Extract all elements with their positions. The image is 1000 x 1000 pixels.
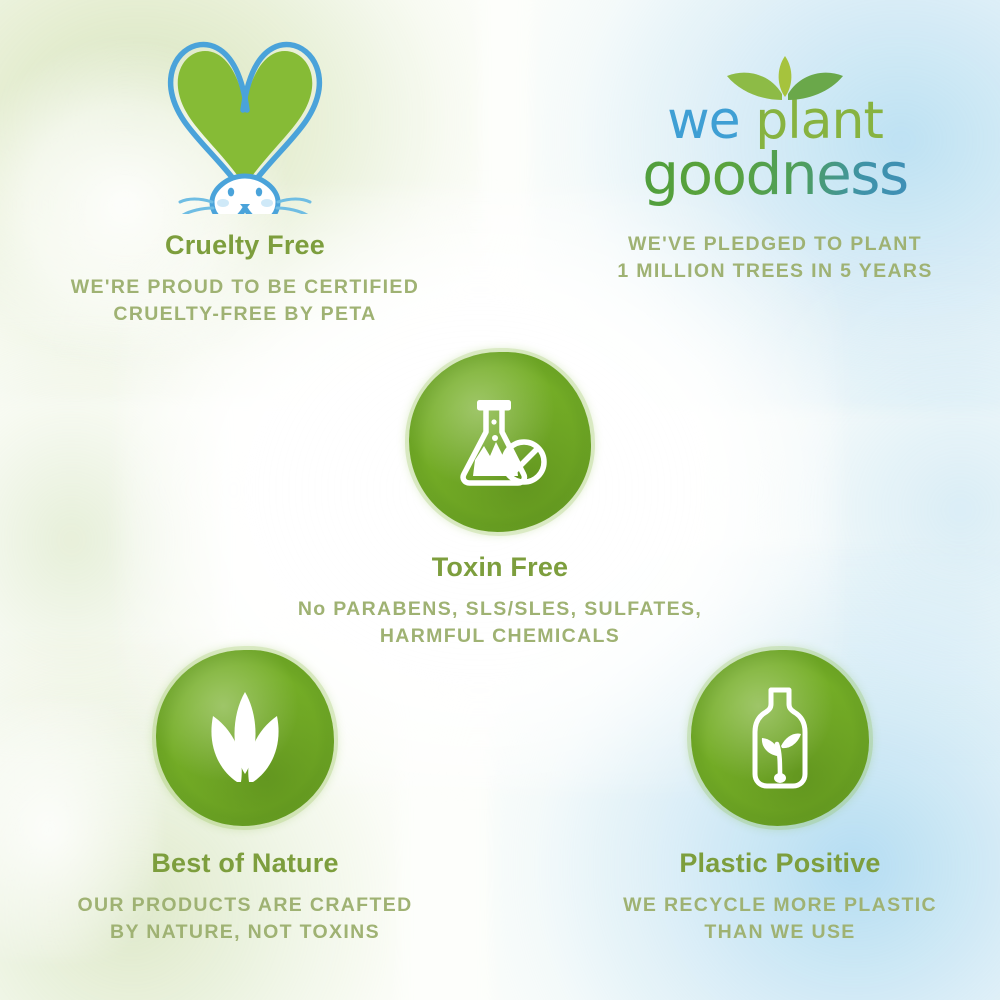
badge-subtitle-line-1: WE'RE PROUD TO BE CERTIFIED [71, 276, 419, 298]
badge-subtitle: WE'VE PLEDGED TO PLANT 1 MILLION TREES I… [560, 231, 990, 285]
badge-subtitle-line-1: WE RECYCLE MORE PLASTIC [623, 894, 937, 916]
badge-title: Toxin Free [280, 552, 720, 584]
badge-cruelty-free: Cruelty Free WE'RE PROUD TO BE CERTIFIED… [20, 26, 470, 328]
badge-subtitle-line-2: 1 MILLION TREES IN 5 YEARS [617, 260, 932, 282]
badge-subtitle-line-2: THAN WE USE [704, 921, 855, 943]
bottle-sprout-icon [734, 684, 826, 792]
three-leaves-icon [722, 56, 848, 118]
badge-subtitle-line-2: HARMFUL CHEMICALS [380, 625, 620, 647]
badge-subtitle-line-1: No PARABENS, SLS/SLES, SULFATES, [298, 598, 702, 620]
badge-toxin-free: Toxin Free No PARABENS, SLS/SLES, SULFAT… [280, 352, 720, 650]
badge-subtitle: WE RECYCLE MORE PLASTIC THAN WE USE [565, 892, 995, 946]
peta-bunny-logo [20, 26, 470, 214]
badge-subtitle-line-2: CRUELTY-FREE BY PETA [113, 303, 376, 325]
plastic-positive-disc [691, 650, 869, 826]
badge-subtitle: WE'RE PROUD TO BE CERTIFIED CRUELTY-FREE… [20, 274, 470, 328]
badge-subtitle: OUR PRODUCTS ARE CRAFTED BY NATURE, NOT … [25, 892, 465, 946]
badge-subtitle: No PARABENS, SLS/SLES, SULFATES, HARMFUL… [280, 596, 720, 650]
badge-title: Cruelty Free [20, 230, 470, 262]
toxin-free-disc [409, 352, 591, 532]
badge-title: Best of Nature [25, 848, 465, 880]
badge-best-of-nature: Best of Nature OUR PRODUCTS ARE CRAFTED … [25, 650, 465, 946]
badge-subtitle-line-1: WE'VE PLEDGED TO PLANT [628, 233, 922, 255]
we-plant-goodness-logo: we plant goodness [625, 98, 925, 201]
best-of-nature-disc [156, 650, 334, 826]
badge-subtitle-line-1: OUR PRODUCTS ARE CRAFTED [77, 894, 412, 916]
three-leaves-solid-icon [195, 686, 295, 790]
badge-plastic-positive: Plastic Positive WE RECYCLE MORE PLASTIC… [565, 650, 995, 946]
peta-bunny-icon [160, 26, 330, 214]
infographic-canvas: Cruelty Free WE'RE PROUD TO BE CERTIFIED… [0, 0, 1000, 1000]
logo-word-goodness: goodness [642, 140, 907, 208]
badge-title: Plastic Positive [565, 848, 995, 880]
badge-subtitle-line-2: BY NATURE, NOT TOXINS [110, 921, 380, 943]
badge-plant-goodness: we plant goodness WE'VE PLEDGED TO PLANT… [560, 98, 990, 285]
flask-no-toxins-icon [448, 390, 552, 494]
logo-line-2: goodness [625, 148, 925, 201]
